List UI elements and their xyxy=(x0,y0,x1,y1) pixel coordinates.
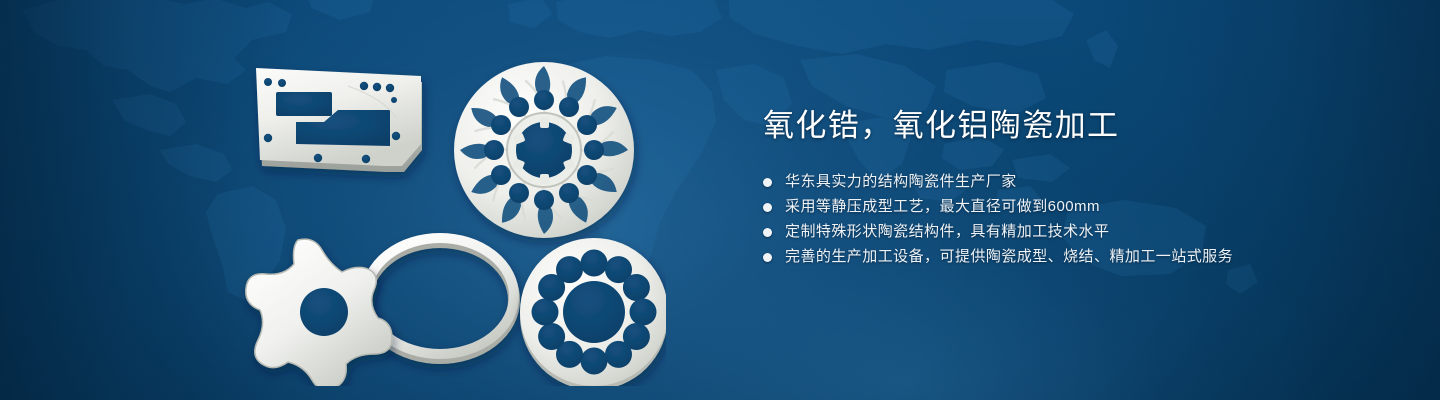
bullet-dot-icon xyxy=(763,178,772,187)
list-item: 定制特殊形状陶瓷结构件，具有精加工技术水平 xyxy=(763,221,1383,243)
feature-list: 华东具实力的结构陶瓷件生产厂家 采用等静压成型工艺，最大直径可做到600mm 定… xyxy=(763,171,1383,268)
banner-copy: 氧化锆，氧化铝陶瓷加工 华东具实力的结构陶瓷件生产厂家 采用等静压成型工艺，最大… xyxy=(763,106,1383,271)
page-title: 氧化锆，氧化铝陶瓷加工 xyxy=(763,106,1383,146)
bullet-dot-icon xyxy=(763,203,772,212)
feature-text: 采用等静压成型工艺，最大直径可做到600mm xyxy=(785,196,1100,218)
hero-banner: 氧化锆，氧化铝陶瓷加工 华东具实力的结构陶瓷件生产厂家 采用等静压成型工艺，最大… xyxy=(0,0,1440,400)
bullet-dot-icon xyxy=(763,228,772,237)
feature-text: 完善的生产加工设备，可提供陶瓷成型、烧结、精加工一站式服务 xyxy=(785,246,1233,268)
list-item: 华东具实力的结构陶瓷件生产厂家 xyxy=(763,171,1383,193)
bullet-dot-icon xyxy=(763,253,772,262)
feature-text: 定制特殊形状陶瓷结构件，具有精加工技术水平 xyxy=(785,221,1109,243)
list-item: 采用等静压成型工艺，最大直径可做到600mm xyxy=(763,196,1383,218)
feature-text: 华东具实力的结构陶瓷件生产厂家 xyxy=(785,171,1017,193)
list-item: 完善的生产加工设备，可提供陶瓷成型、烧结、精加工一站式服务 xyxy=(763,246,1383,268)
ceramic-products-image xyxy=(236,38,666,386)
